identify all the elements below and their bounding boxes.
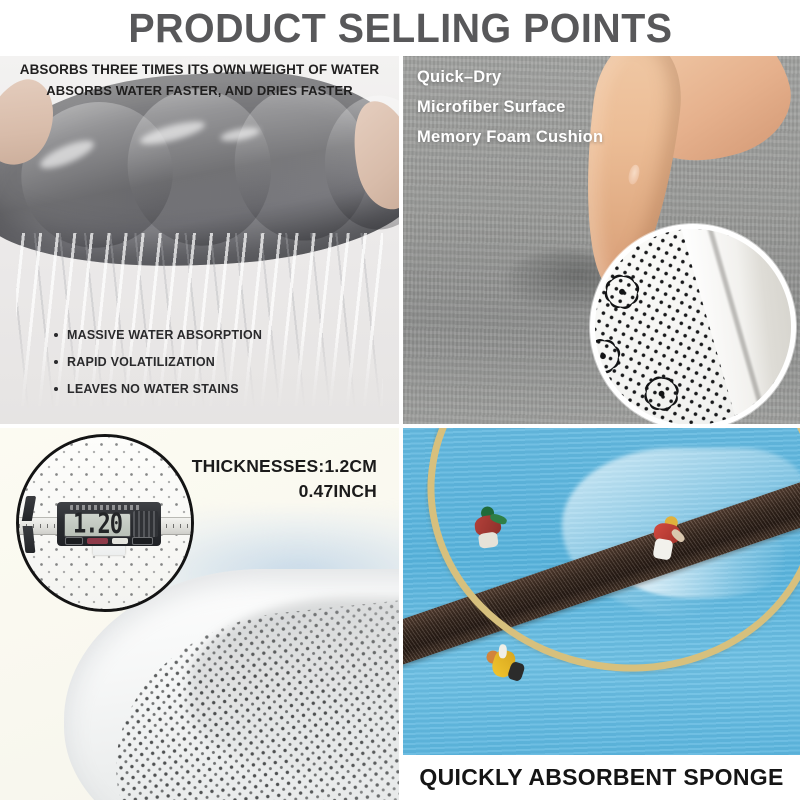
mat-dot-backing [101, 590, 399, 800]
thickness-cm-line: THICKNESSES:1.2CM [192, 454, 377, 479]
yellow-hose-loop [403, 428, 800, 700]
caliper-hold-button [132, 537, 153, 545]
figurine-green-sweeper [467, 504, 520, 566]
thickness-label: THICKNESSES:1.2CM 0.47INCH [192, 454, 377, 504]
absorption-headline-line1: ABSORBS THREE TIMES ITS OWN WEIGHT OF WA… [0, 59, 399, 80]
sponge-caption-text: QUICKLY ABSORBENT SPONGE [419, 764, 783, 791]
caliper-button-row [65, 538, 152, 544]
caliper-mm-inch-button [87, 538, 108, 544]
dot-floret [643, 376, 680, 413]
caliper-thumb-grip [133, 511, 158, 538]
page-title: PRODUCT SELLING POINTS [128, 8, 672, 49]
list-item: RAPID VOLATILIZATION [54, 355, 262, 369]
dot-floret [590, 338, 622, 375]
caliper-lower-jaw [23, 526, 35, 553]
feature-quick-dry: Quick–Dry [417, 62, 603, 92]
product-selling-points-infographic: PRODUCT SELLING POINTS ABSORBS [0, 0, 800, 800]
panel-absorbent-sponge: QUICKLY ABSORBENT SPONGE [403, 428, 800, 800]
caliper-jaws [16, 499, 53, 551]
dot-floret [604, 273, 641, 310]
figurine-red-worker [641, 513, 696, 576]
absorption-headline: ABSORBS THREE TIMES ITS OWN WEIGHT OF WA… [0, 59, 399, 101]
figurine-legs [653, 538, 674, 561]
figurine-legs [478, 532, 499, 549]
list-item: LEAVES NO WATER STAINS [54, 382, 262, 396]
caliper-upper-jaw [22, 496, 36, 521]
fingertip-highlight [626, 164, 641, 186]
panel-grid: ABSORBS THREE TIMES ITS OWN WEIGHT OF WA… [0, 56, 800, 800]
miniature-scene-photo [403, 428, 800, 755]
caliper-zero-button [112, 538, 128, 544]
caliper-reading-value: 1.20 [73, 511, 122, 539]
panel-water-absorption: ABSORBS THREE TIMES ITS OWN WEIGHT OF WA… [0, 56, 399, 424]
sponge-caption-bar: QUICKLY ABSORBENT SPONGE [403, 755, 800, 800]
header-banner: PRODUCT SELLING POINTS [0, 0, 800, 56]
feature-microfiber-surface: Microfiber Surface [417, 92, 603, 122]
caliper-closeup-inset: 1.20 [16, 434, 194, 612]
list-item: MASSIVE WATER ABSORPTION [54, 328, 262, 342]
panel-thickness: 1.20 THICKNESSES:1.2CM 0.47INCH [0, 428, 399, 800]
surface-feature-labels: Quick–Dry Microfiber Surface Memory Foam… [417, 62, 603, 152]
thickness-inch-line: 0.47INCH [192, 479, 377, 504]
caliper-lcd-display: 1.20 [64, 513, 130, 537]
panel-surface-features: Quick–Dry Microfiber Surface Memory Foam… [403, 56, 800, 424]
backing-closeup-inset [590, 224, 796, 424]
caliper-on-off-button [65, 537, 83, 545]
feature-memory-foam-cushion: Memory Foam Cushion [417, 122, 603, 152]
absorption-headline-line2: ABSORBS WATER FASTER, AND DRIES FASTER [0, 80, 399, 101]
absorption-bullet-list: MASSIVE WATER ABSORPTION RAPID VOLATILIZ… [14, 328, 262, 396]
digital-caliper: 1.20 [16, 499, 194, 551]
caliper-body: 1.20 [57, 502, 161, 546]
